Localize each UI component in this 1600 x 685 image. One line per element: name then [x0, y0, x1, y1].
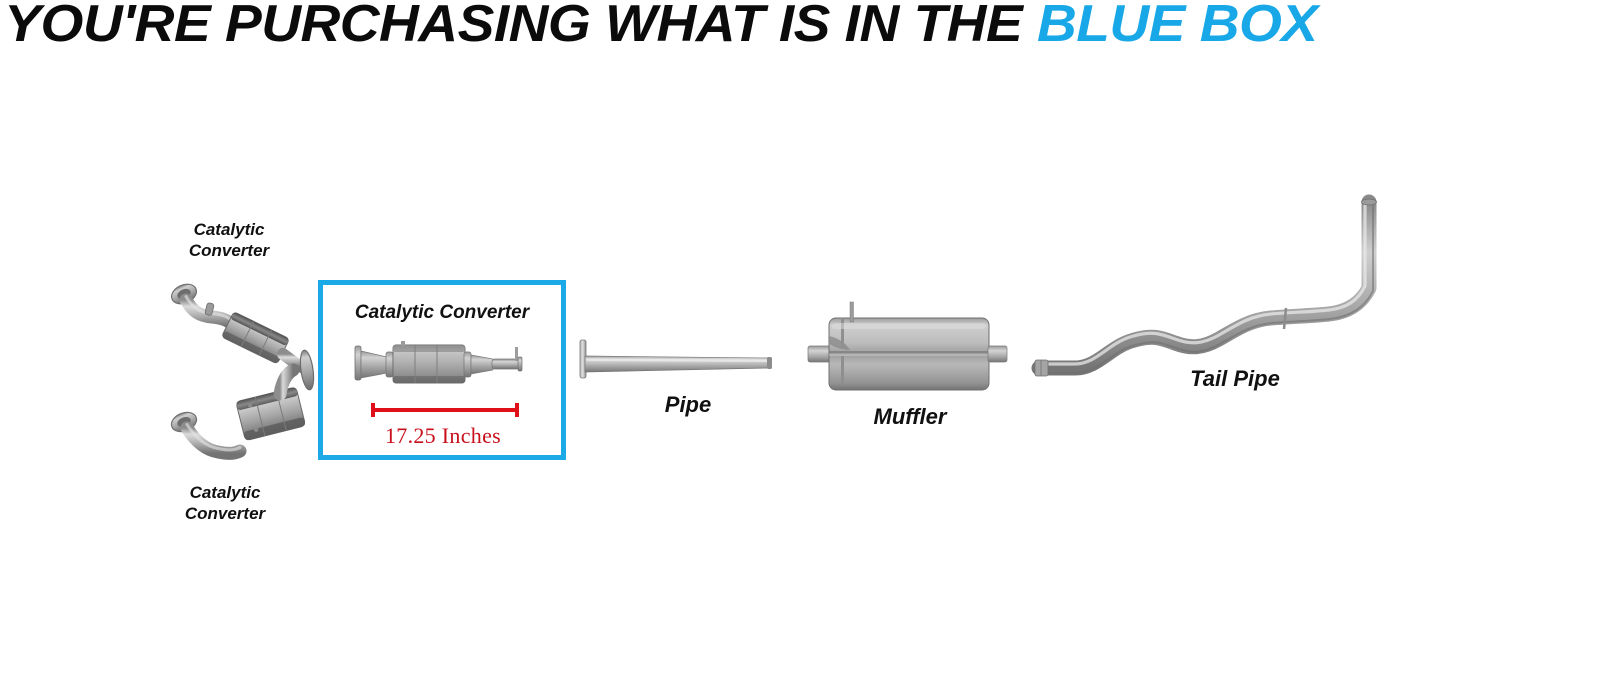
blue-box-title: Catalytic Converter — [323, 302, 561, 324]
label-catalytic-converter-bottom: Catalytic Converter — [146, 483, 304, 524]
diagram-canvas: YOU'RE PURCHASING WHAT IS IN THE BLUE BO… — [0, 0, 1600, 685]
lower-converter-bank — [169, 370, 306, 453]
label-pipe: Pipe — [608, 392, 768, 419]
label-catalytic-converter-top: Catalytic Converter — [150, 220, 308, 261]
tail-pipe-graphic — [1035, 196, 1405, 381]
label-tail-pipe: Tail Pipe — [1140, 366, 1330, 393]
muffler-graphic — [808, 302, 1008, 394]
dimension-cap-right — [515, 403, 519, 417]
boxed-catalytic-converter-graphic — [353, 333, 533, 395]
blue-highlight-box: Catalytic Converter — [318, 280, 566, 460]
page-title-black-text: YOU'RE PURCHASING WHAT IS IN THE — [4, 0, 1037, 53]
page-title: YOU'RE PURCHASING WHAT IS IN THE BLUE BO… — [0, 0, 1600, 52]
dual-catalytic-converter-assembly-graphic — [160, 270, 320, 480]
label-muffler: Muffler — [830, 404, 990, 431]
dimension-label: 17.25 Inches — [353, 423, 533, 449]
dimension-cap-left — [371, 403, 375, 417]
dimension-bar — [371, 408, 519, 412]
pipe-graphic — [578, 336, 778, 382]
dimension-line — [371, 403, 519, 417]
page-title-blue-text: BLUE BOX — [1037, 0, 1318, 53]
